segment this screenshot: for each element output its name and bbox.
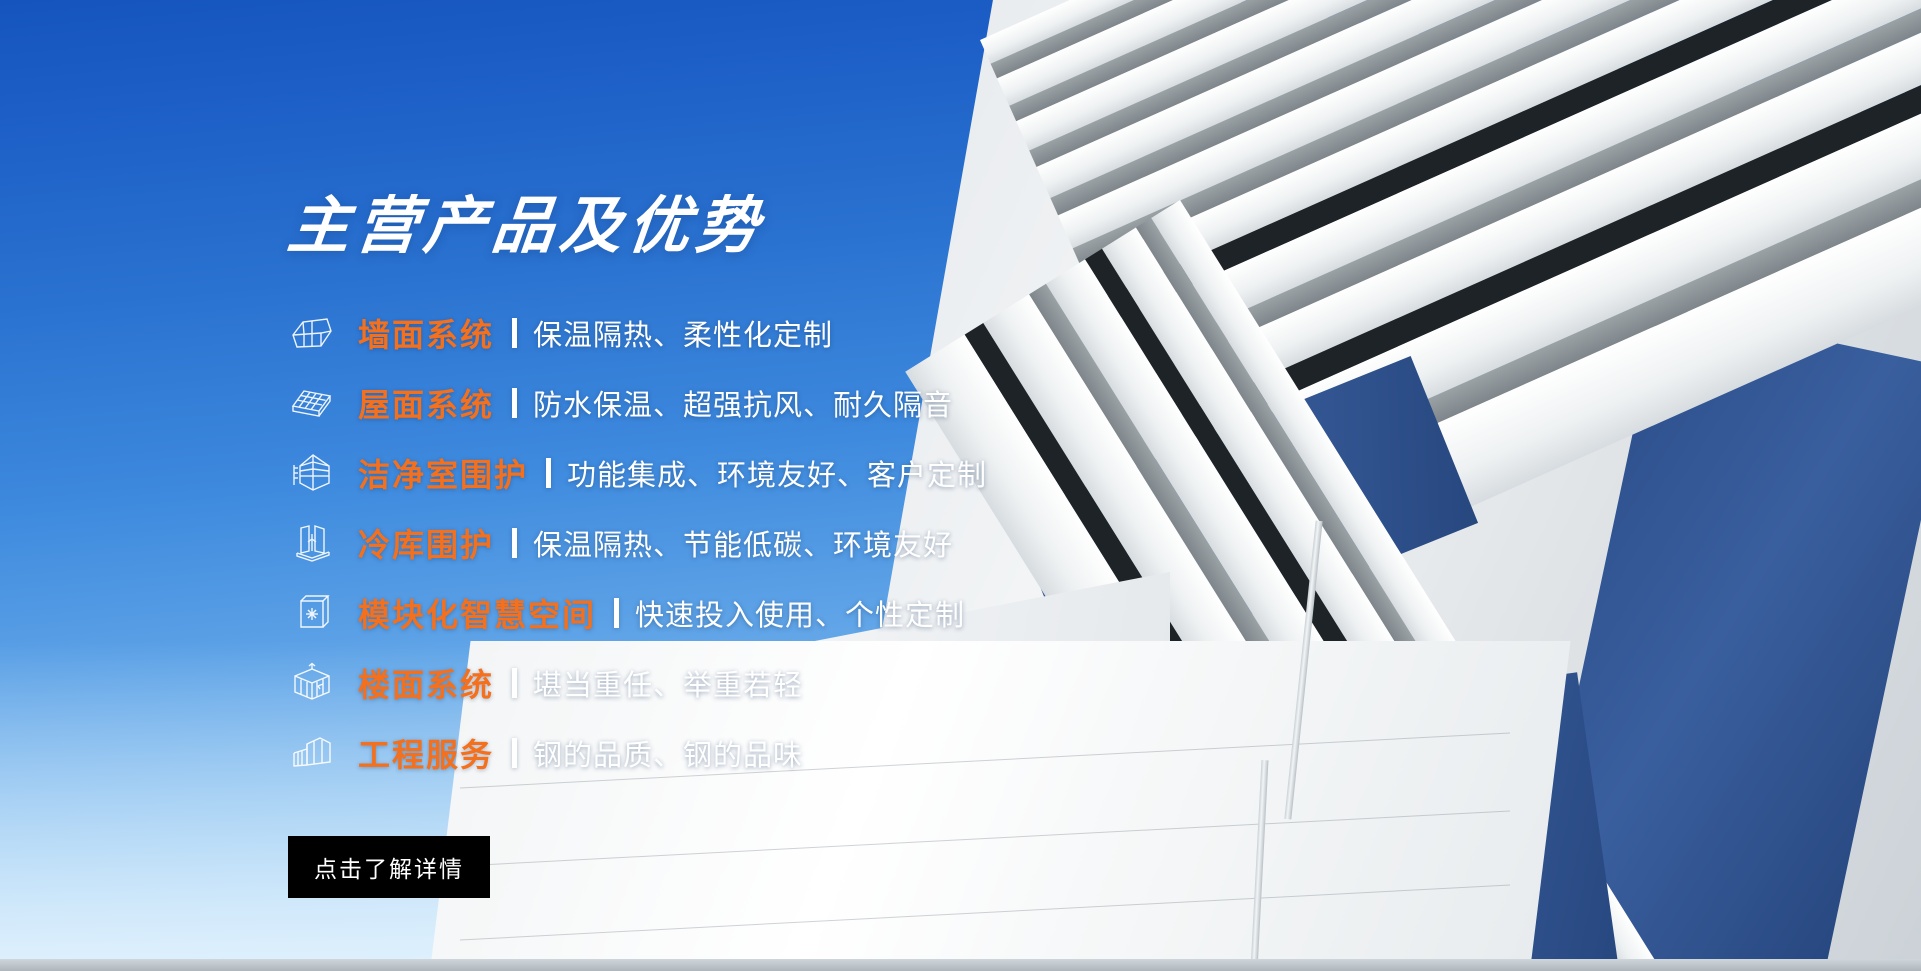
feature-item-floor-system[interactable]: 楼面系统 堪当重任、举重若轻 [288,654,1388,711]
feature-title: 模块化智慧空间 [358,590,596,636]
feature-item-modular-space[interactable]: 模块化智慧空间 快速投入使用、个性定制 [288,584,1388,641]
feature-item-wall-system[interactable]: 墙面系统 保温隔热、柔性化定制 [288,304,1388,361]
feature-description: 堪当重任、举重若轻 [533,662,803,704]
modular-space-icon [288,591,336,635]
feature-title: 屋面系统 [358,380,494,426]
feature-separator [512,738,517,768]
feature-title: 冷库围护 [358,520,494,566]
hero-content: 主营产品及优势 墙面系统 保温隔热、柔性化定制 [288,196,1388,898]
cold-storage-icon [288,521,336,565]
cleanroom-building-icon [288,451,336,495]
feature-description: 防水保温、超强抗风、耐久隔音 [533,382,953,424]
feature-title: 楼面系统 [358,660,494,706]
wall-panel-icon [288,311,336,355]
feature-description: 钢的品质、钢的品味 [533,732,803,774]
feature-separator [512,528,517,558]
hero-banner: 主营产品及优势 墙面系统 保温隔热、柔性化定制 [0,0,1921,971]
feature-item-engineering-service[interactable]: 工程服务 钢的品质、钢的品味 [288,724,1388,781]
feature-description: 功能集成、环境友好、客户定制 [567,452,987,494]
feature-title: 墙面系统 [358,310,494,356]
learn-more-button[interactable]: 点击了解详情 [288,836,490,898]
feature-title: 洁净室围护 [358,450,528,496]
feature-separator [546,458,551,488]
feature-separator [512,668,517,698]
feature-description: 保温隔热、柔性化定制 [533,312,833,354]
feature-separator [512,388,517,418]
page-title: 主营产品及优势 [285,196,768,258]
feature-separator [614,598,619,628]
feature-item-cleanroom[interactable]: 洁净室围护 功能集成、环境友好、客户定制 [288,444,1388,501]
feature-title: 工程服务 [358,730,494,776]
feature-description: 快速投入使用、个性定制 [635,592,965,634]
product-feature-list: 墙面系统 保温隔热、柔性化定制 [288,304,1388,781]
feature-separator [512,318,517,348]
floor-deck-icon [288,661,336,705]
roof-panel-icon [288,381,336,425]
feature-description: 保温隔热、节能低碳、环境友好 [533,522,953,564]
feature-item-roof-system[interactable]: 屋面系统 防水保温、超强抗风、耐久隔音 [288,374,1388,431]
engineering-service-icon [288,731,336,775]
feature-item-cold-storage[interactable]: 冷库围护 保温隔热、节能低碳、环境友好 [288,514,1388,571]
